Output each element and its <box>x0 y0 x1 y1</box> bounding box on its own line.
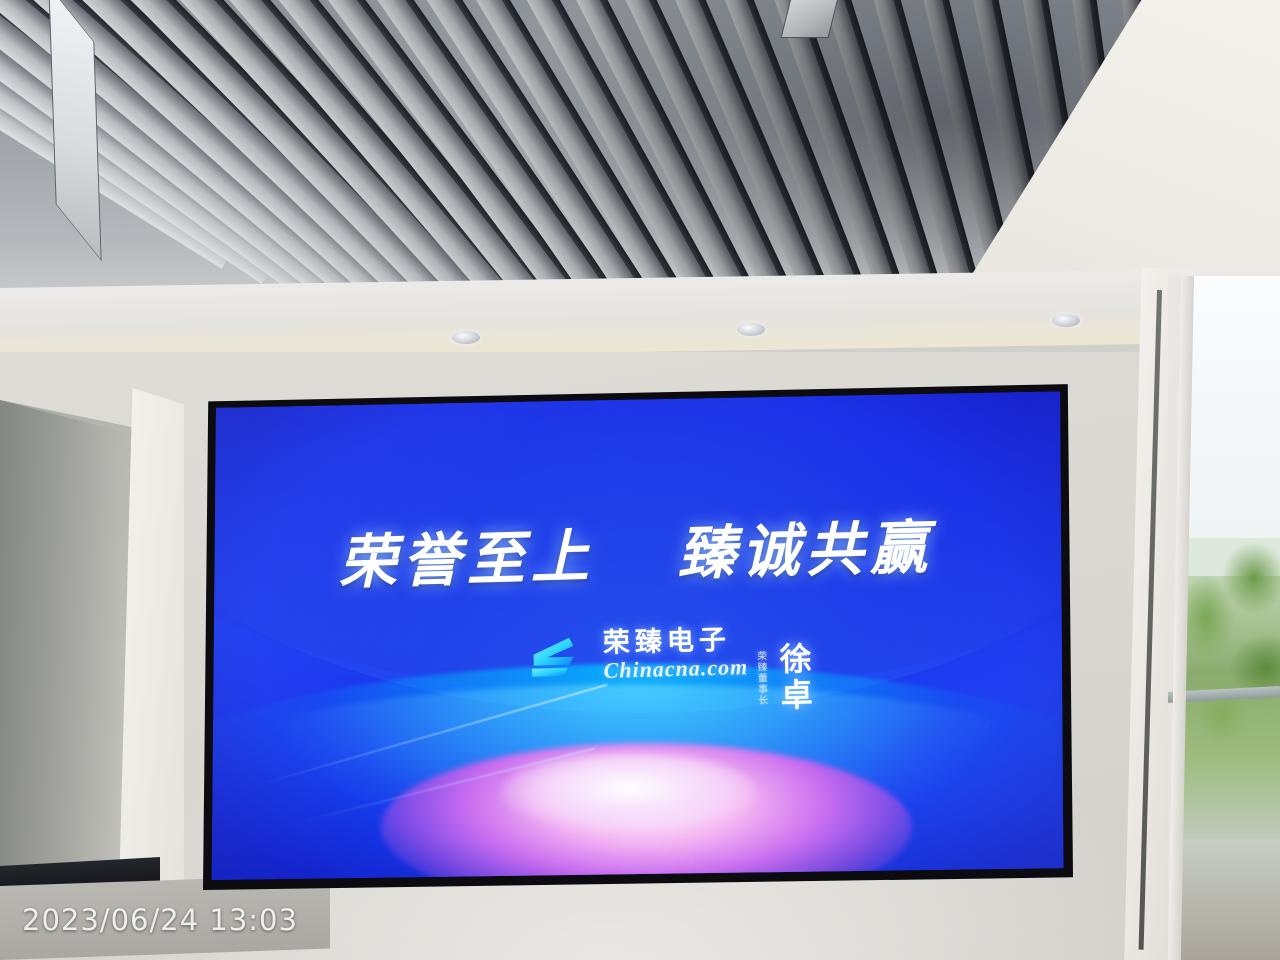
led-screen-panel[interactable]: 荣誉至上 臻诚共赢 荣臻电子 <box>210 386 1066 882</box>
slogan-gap <box>615 574 657 575</box>
slogan-right-text: 臻诚共赢 <box>677 515 935 587</box>
slogan-line: 荣誉至上 臻诚共赢 <box>210 496 1065 602</box>
downlight-1 <box>452 331 480 344</box>
logo-company-name: 荣臻电子 <box>603 627 732 657</box>
company-logo: 荣臻电子 Chinacna.com <box>210 618 1066 692</box>
screen-content: 荣誉至上 臻诚共赢 荣臻电子 <box>210 386 1066 882</box>
ceiling-light-panel-right <box>781 0 840 38</box>
person-name: 徐卓 <box>770 642 818 715</box>
logo-website: Chinacna.com <box>603 656 748 682</box>
person-title: 荣臻董事长 <box>754 651 767 706</box>
slat-ceiling <box>0 0 1280 300</box>
logo-text-block: 荣臻电子 Chinacna.com <box>603 626 749 682</box>
downlight-2 <box>737 323 765 336</box>
left-doorway-shadow <box>0 400 120 920</box>
person-credit: 荣臻董事长 徐卓 <box>754 642 818 716</box>
rongzhen-arrow-mark-icon <box>529 633 592 681</box>
photo-scene: 荣誉至上 臻诚共赢 荣臻电子 <box>0 0 1280 960</box>
downlight-3 <box>1052 314 1080 327</box>
slogan-left-text: 荣誉至上 <box>338 524 596 596</box>
camera-timestamp: 2023/06/24 13:03 <box>22 903 298 937</box>
